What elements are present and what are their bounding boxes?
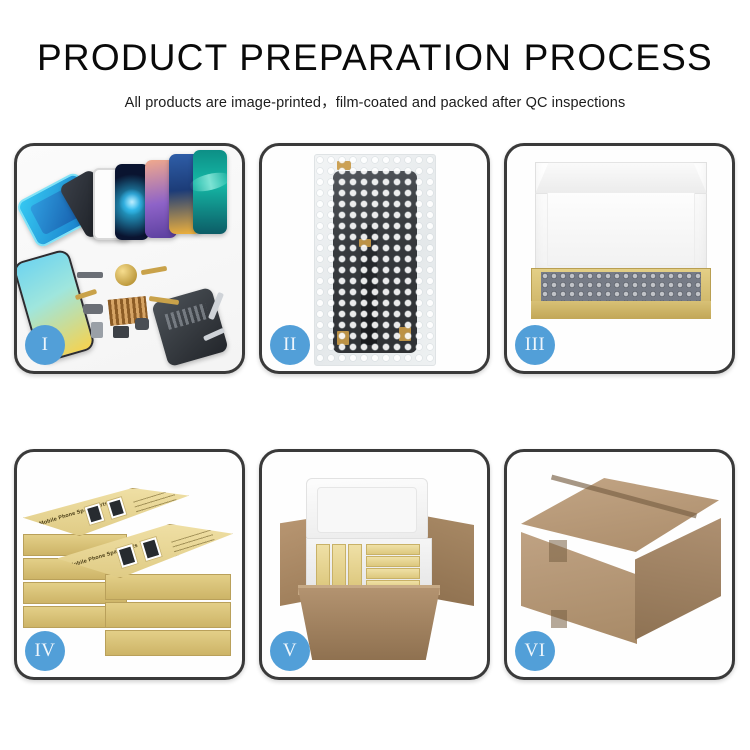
step-badge-2: II [270, 325, 310, 365]
camera-module [83, 304, 103, 314]
button-part [113, 326, 129, 338]
foam-insert [547, 192, 695, 266]
step-3-image: III [507, 146, 732, 371]
product-preparation-infographic: PRODUCT PREPARATION PROCESS All products… [0, 0, 750, 750]
bubble-wrap-pouch [314, 154, 436, 366]
step-panel-1: I [14, 143, 245, 374]
inner-box-3 [348, 544, 362, 588]
small-component [135, 318, 149, 330]
step-panel-2: II [259, 143, 490, 374]
battery-part [91, 322, 103, 338]
box-spec-text-back [133, 489, 181, 526]
step-panel-4: Mobile Phone Spare Parts Mobile Phone Sp… [14, 449, 245, 680]
inner-box-1 [316, 544, 330, 588]
step-badge-1: I [25, 325, 65, 365]
inner-box-4 [366, 544, 420, 555]
page-subtitle: All products are image-printed，film-coat… [0, 91, 750, 112]
step-panel-3: III [504, 143, 735, 374]
step-badge-3: III [515, 325, 555, 365]
bubble-wrapped-contents [541, 272, 701, 302]
header: PRODUCT PREPARATION PROCESS All products… [0, 0, 750, 112]
step-1-image: I [17, 146, 242, 371]
bubble-texture [315, 155, 435, 365]
carton-tab-upper [549, 540, 567, 562]
step-badge-6: VI [515, 631, 555, 671]
carton-body [298, 588, 440, 660]
earpiece-part [77, 272, 103, 278]
step-6-image: VI [507, 452, 732, 677]
phone-screen-teal [193, 150, 227, 234]
step-4-image: Mobile Phone Spare Parts Mobile Phone Sp… [17, 452, 242, 677]
process-steps-grid: I II [14, 143, 736, 680]
box-tray-front [531, 301, 711, 319]
step-badge-5: V [270, 631, 310, 671]
inner-box-2 [332, 544, 346, 588]
phone-screen-blue [115, 164, 149, 240]
step-5-image: V [262, 452, 487, 677]
inner-box-6 [366, 568, 420, 579]
box-spec-text-front [171, 529, 219, 566]
box-window-back-2 [105, 496, 127, 520]
box-lid-flap [535, 162, 707, 194]
flex-cable-1 [141, 266, 167, 275]
foam-lid [306, 478, 428, 542]
step-panel-5: V [259, 449, 490, 680]
page-title: PRODUCT PREPARATION PROCESS [0, 38, 750, 79]
stacked-box-side-5 [105, 574, 231, 600]
box-window-front-2 [139, 536, 163, 562]
stacked-box-side-6 [105, 602, 231, 628]
step-panel-6: VI [504, 449, 735, 680]
inner-box-5 [366, 556, 420, 567]
step-2-image: II [262, 146, 487, 371]
step-badge-4: IV [25, 631, 65, 671]
speaker-module [115, 264, 137, 286]
carton-front-face [521, 532, 637, 644]
stacked-box-side-7 [105, 630, 231, 656]
carton-tab-lower [551, 610, 567, 628]
